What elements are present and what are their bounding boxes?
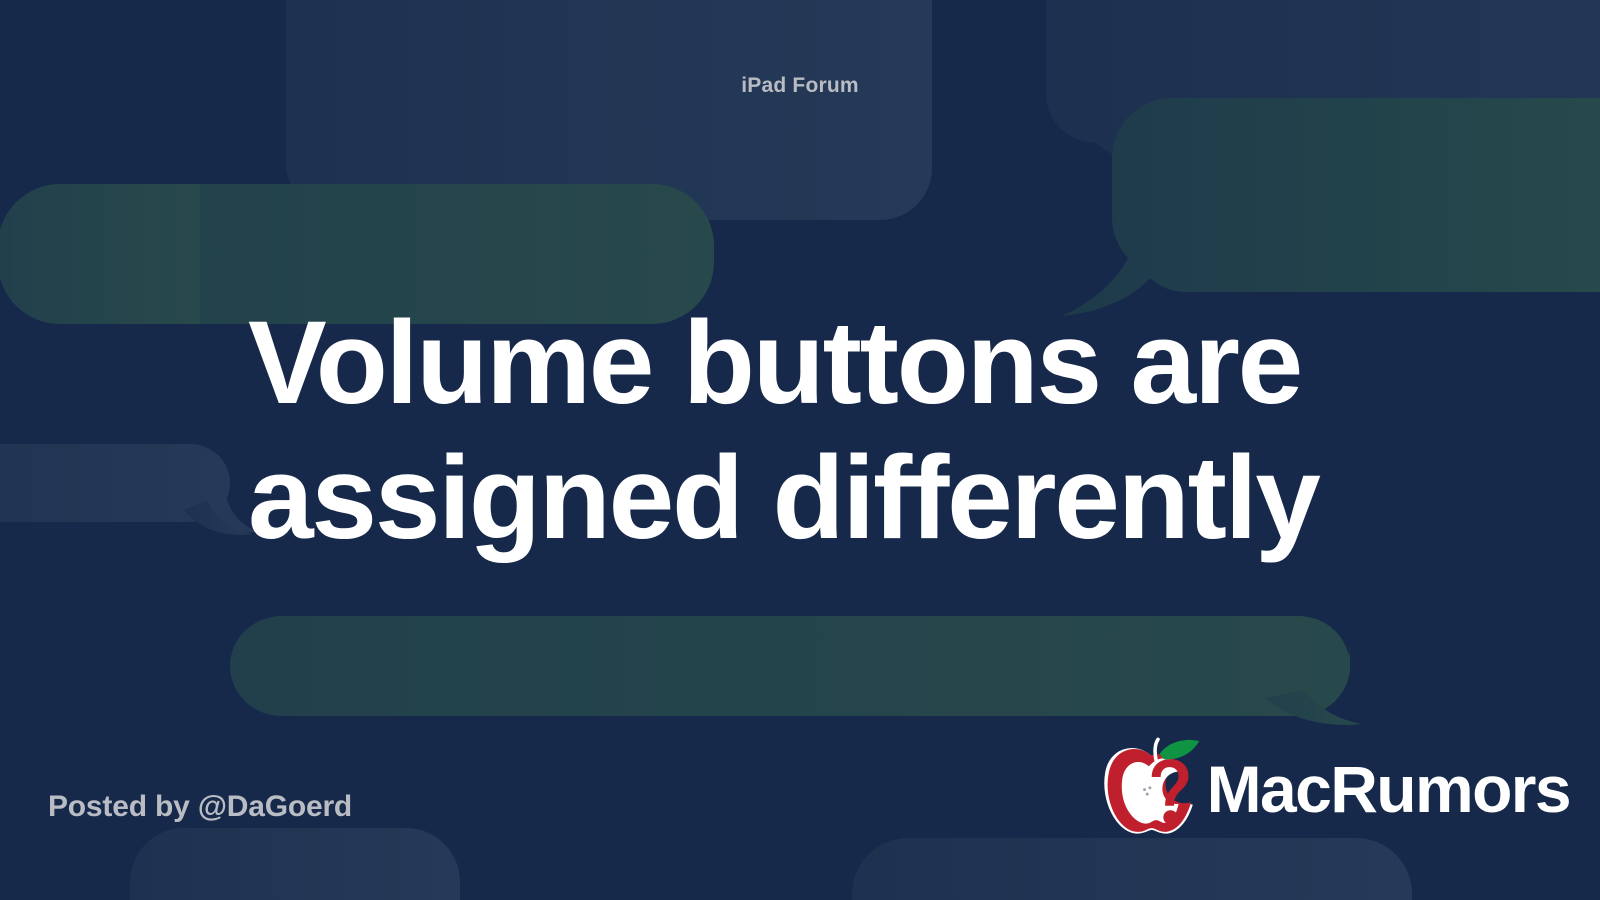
macrumors-logo: MacRumors bbox=[1095, 734, 1570, 838]
apple-question-mark-icon bbox=[1095, 734, 1203, 838]
question-dot bbox=[1163, 810, 1177, 824]
leaf-icon bbox=[1159, 740, 1198, 760]
bubble-bottom-center bbox=[852, 838, 1412, 900]
brand-name: MacRumors bbox=[1207, 756, 1570, 822]
bubble-mid-left bbox=[0, 444, 258, 535]
bubble-top-center bbox=[286, 0, 932, 246]
posted-by-label: Posted by @DaGoerd bbox=[48, 790, 352, 824]
bubble-center-teal bbox=[230, 616, 1362, 725]
page-title: Volume buttons are assigned differently bbox=[248, 296, 1378, 565]
share-card: iPad Forum Volume buttons are assigned d… bbox=[0, 0, 1600, 900]
bubble-bottom-left bbox=[130, 828, 460, 900]
bubble-right-teal bbox=[1062, 98, 1600, 316]
forum-label: iPad Forum bbox=[0, 74, 1600, 98]
